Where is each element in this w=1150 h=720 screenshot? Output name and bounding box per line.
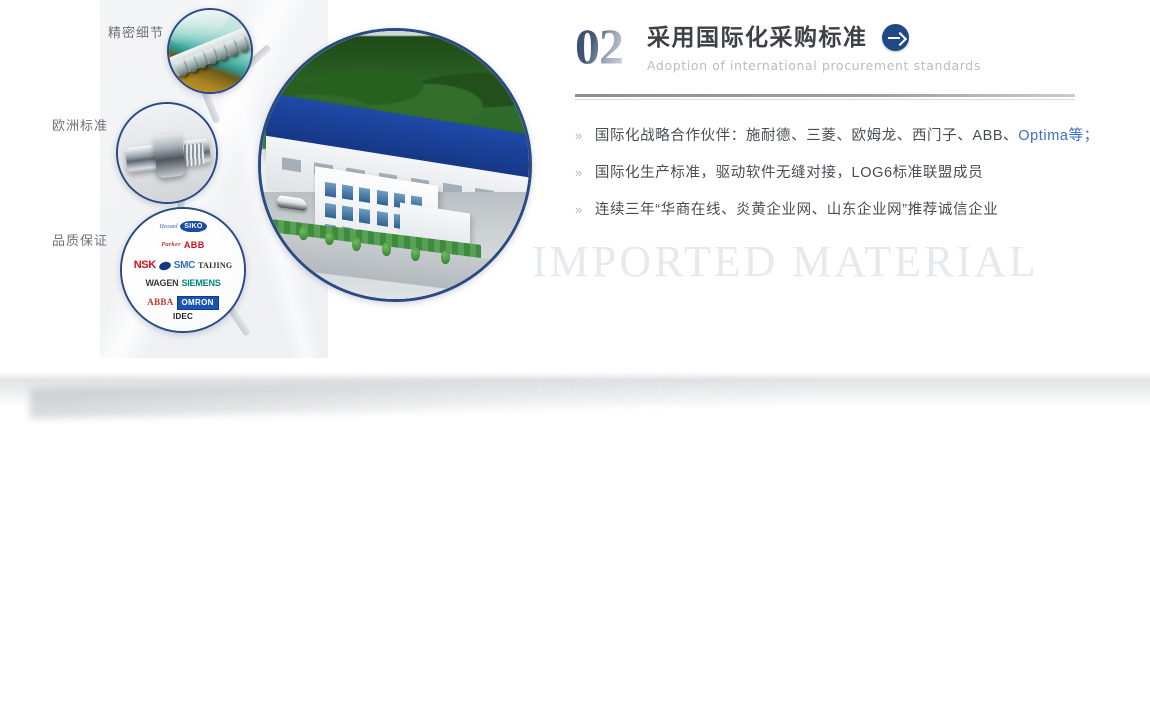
brand-logos-collage: Heward SIKO Parker ABB NSK SMC TAIJING W… (120, 207, 246, 333)
list-item-highlight: Optima等； (1018, 124, 1099, 145)
brand-logo-taijing: TAIJING (198, 262, 232, 270)
list-item-text: 连续三年“华商在线、炎黄企业网、山东企业网”推荐诚信企业 (595, 198, 998, 219)
label-european: 欧洲标准 (52, 115, 108, 134)
label-precision: 精密细节 (108, 22, 164, 41)
gear-macro-photo (167, 8, 253, 94)
content-panel: 02 采用国际化采购标准 Adoption of international p… (575, 22, 1120, 235)
page-title: 采用国际化采购标准 (647, 25, 868, 50)
brand-logo-nsk: NSK (134, 260, 156, 271)
gear-photo-content (169, 10, 251, 92)
brand-logo-omron: OMRON (177, 296, 219, 310)
arrow-right-icon[interactable] (882, 24, 909, 51)
chevron-double-icon: » (575, 202, 583, 217)
brand-logo-parker: Parker (161, 242, 181, 249)
bottom-shadow-band (0, 372, 1150, 430)
section-number: 02 (575, 22, 627, 70)
feature-list: » 国际化战略合作伙伴：施耐德、三菱、欧姆龙、西门子、ABB、 Optima等；… (575, 124, 1120, 219)
watermark-text: IMPORTED MATERIAL (532, 236, 1039, 287)
brand-logo-abb: ABB (184, 241, 205, 250)
heading-text-group: 采用国际化采购标准 Adoption of international proc… (627, 22, 981, 73)
section-heading: 02 采用国际化采购标准 Adoption of international p… (575, 22, 1120, 84)
ball-screw-photo (116, 102, 218, 204)
product-imagery-panel: Heward SIKO Parker ABB NSK SMC TAIJING W… (0, 0, 520, 375)
brand-logo-idec: IDEC (173, 313, 193, 321)
smc-ellipse-icon (158, 260, 172, 271)
list-item-text: 国际化生产标准，驱动软件无缝对接，LOG6标准联盟成员 (595, 161, 983, 182)
list-item: » 国际化战略合作伙伴：施耐德、三菱、欧姆龙、西门子、ABB、 Optima等； (575, 124, 1120, 145)
chevron-double-icon: » (575, 165, 583, 180)
list-item: » 国际化生产标准，驱动软件无缝对接，LOG6标准联盟成员 (575, 161, 1120, 182)
brand-logo-smc: SMC (174, 261, 195, 271)
title-line: 采用国际化采购标准 (647, 24, 981, 51)
brand-logo-siemens: SIEMENS (181, 279, 220, 288)
brand-logos-content: Heward SIKO Parker ABB NSK SMC TAIJING W… (122, 209, 244, 331)
brand-logo-wagen: WAGEN (145, 279, 178, 288)
brand-logo-heward: Heward (159, 224, 177, 230)
divider-thin (575, 99, 1075, 100)
factory-photo-content (261, 31, 529, 299)
brand-logo-siko: SIKO (180, 221, 206, 232)
screw-nut (153, 133, 187, 179)
label-quality: 品质保证 (52, 230, 108, 249)
divider-thick (575, 94, 1075, 97)
page-subtitle: Adoption of international procurement st… (647, 58, 981, 73)
ball-screw-photo-content (118, 104, 216, 202)
list-item: » 连续三年“华商在线、炎黄企业网、山东企业网”推荐诚信企业 (575, 198, 1120, 219)
factory-building-photo (258, 28, 532, 302)
chevron-double-icon: » (575, 128, 583, 143)
brand-logo-abba: ABBA (147, 298, 173, 307)
list-item-text: 国际化战略合作伙伴：施耐德、三菱、欧姆龙、西门子、ABB、 (595, 124, 1018, 145)
